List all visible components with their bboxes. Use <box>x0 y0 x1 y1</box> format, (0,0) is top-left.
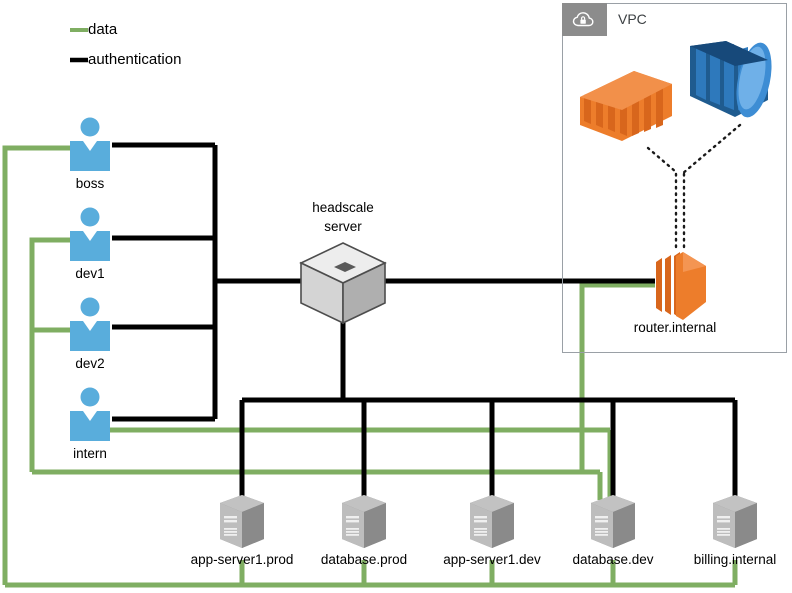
user-label-intern: intern <box>73 446 107 462</box>
server-label-database-prod: database.prod <box>321 552 407 568</box>
server-label-app-server1-dev: app-server1.dev <box>443 552 541 568</box>
server-label-app-server1-prod: app-server1.prod <box>191 552 294 568</box>
vpc-header-tab <box>562 3 607 36</box>
cloud-lock-icon <box>572 10 598 30</box>
router-internal-label: router.internal <box>634 320 717 336</box>
vpc-label: VPC <box>618 11 647 27</box>
headscale-server-label-line1: headscale <box>312 200 374 216</box>
user-label-dev2: dev2 <box>75 356 104 372</box>
user-icon-dev2[interactable] <box>70 298 110 352</box>
vpc-container <box>562 3 787 353</box>
user-label-boss: boss <box>76 176 105 192</box>
server-label-database-dev: database.dev <box>572 552 653 568</box>
headscale-server-label-line2: server <box>324 219 362 235</box>
legend-item-data: data <box>88 21 117 38</box>
server-icon-database-prod[interactable] <box>342 495 386 548</box>
server-icon-database-dev[interactable] <box>591 495 635 548</box>
user-icon-boss[interactable] <box>70 118 110 172</box>
user-icon-dev1[interactable] <box>70 208 110 262</box>
server-icon-billing-internal[interactable] <box>713 495 757 548</box>
server-icon-app-server1-prod[interactable] <box>220 495 264 548</box>
legend-item-authentication: authentication <box>88 51 181 68</box>
network-diagram: VPC data authentication boss dev1 dev2 i… <box>0 0 792 593</box>
user-label-dev1: dev1 <box>75 266 104 282</box>
user-icon-intern[interactable] <box>70 388 110 442</box>
server-label-billing-internal: billing.internal <box>694 552 777 568</box>
legend-swatches <box>70 30 88 60</box>
server-icon-app-server1-dev[interactable] <box>470 495 514 548</box>
headscale-cube-icon[interactable] <box>301 243 385 323</box>
